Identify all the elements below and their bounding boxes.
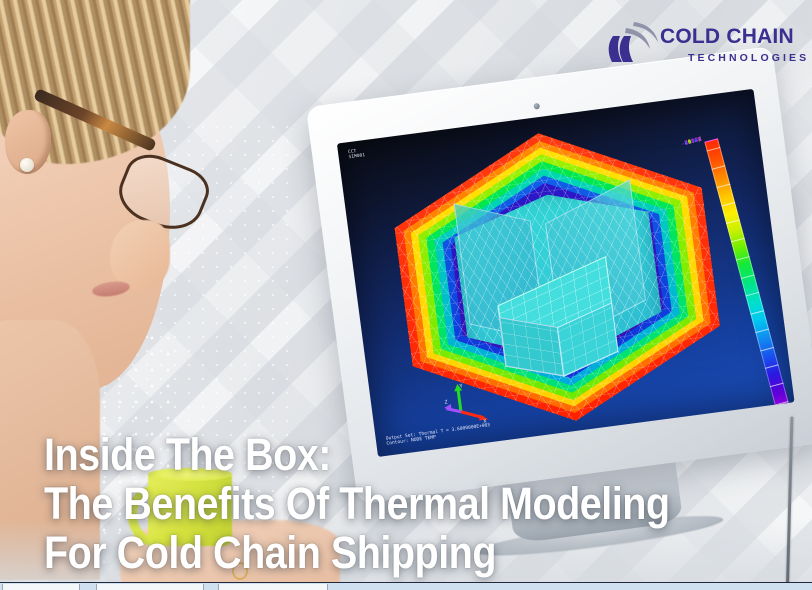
color-scale-tick — [750, 310, 764, 314]
bottom-tab[interactable] — [2, 584, 80, 590]
bottom-tab-strip[interactable] — [0, 582, 812, 590]
color-scale-tick — [765, 365, 779, 369]
monitor-screen[interactable]: CCT SIM001 — [337, 89, 795, 457]
headline-line-1: Inside The Box: — [44, 430, 660, 479]
color-scale-tick — [760, 347, 774, 351]
color-scale-tick — [755, 328, 769, 332]
bottom-tab[interactable] — [218, 584, 328, 590]
color-scale-tick — [741, 274, 755, 278]
color-scale-tick — [726, 220, 740, 224]
svg-text:Z: Z — [444, 399, 448, 405]
fea-viewport[interactable]: CCT SIM001 — [337, 89, 795, 457]
nose — [110, 220, 170, 290]
cold-chain-wave-icon — [604, 20, 664, 70]
headline-line-3: For Cold Chain Shipping — [44, 528, 660, 577]
brand-logo[interactable]: COLD CHAIN TECHNOLOGIES — [604, 12, 776, 74]
bottom-tab[interactable] — [96, 584, 204, 590]
thermal-box-model: Y X Z — [385, 113, 730, 441]
color-scale-tick — [736, 256, 750, 260]
headline-line-2: The Benefits Of Thermal Modeling — [44, 479, 660, 528]
color-scale-tick — [721, 202, 735, 206]
color-scale-tick — [712, 165, 726, 169]
poster-canvas: CCT SIM001 — [0, 0, 812, 590]
svg-text:Y: Y — [459, 383, 463, 389]
fea-corner-label: CCT SIM001 — [348, 148, 366, 160]
color-scale-tick — [716, 184, 730, 188]
color-scale-tick — [746, 292, 760, 296]
headline: Inside The Box: The Benefits Of Thermal … — [44, 430, 660, 577]
color-scale-tick — [770, 383, 784, 387]
color-scale-tick — [707, 147, 721, 151]
pearl-earring — [20, 158, 34, 172]
logo-secondary-text: TECHNOLOGIES — [688, 52, 809, 64]
axis-triad-icon: Y X Z — [441, 378, 492, 428]
logo-primary-text: COLD CHAIN — [660, 26, 794, 48]
color-scale-tick — [731, 238, 745, 242]
